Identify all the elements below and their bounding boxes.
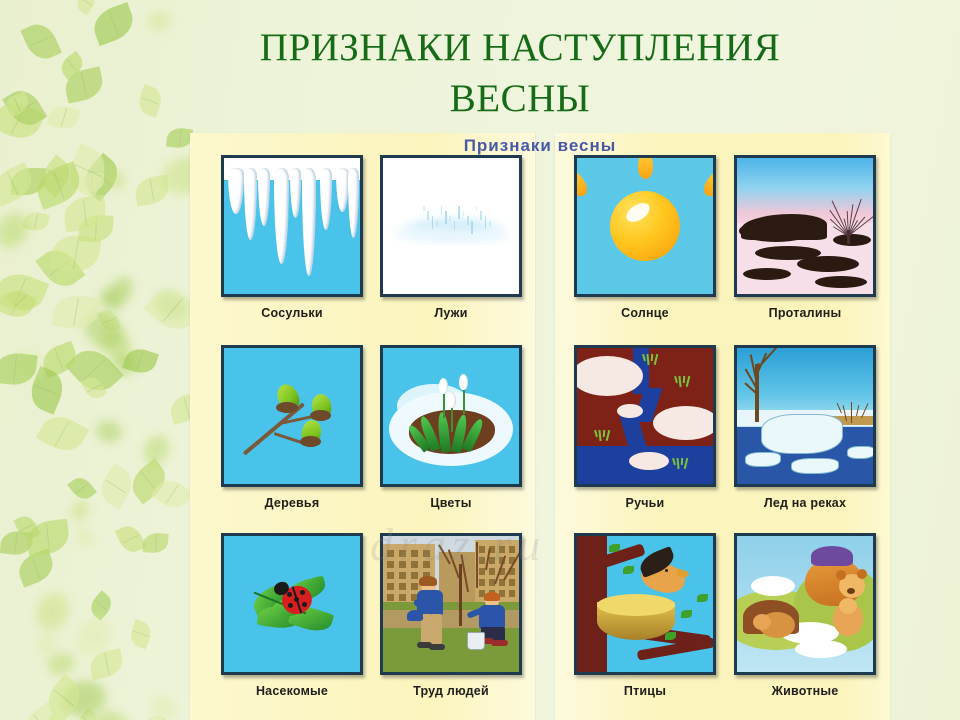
snowdrop-flower-icon (459, 374, 468, 390)
leaf-icon (5, 345, 48, 387)
leaf-icon (51, 291, 100, 332)
watering-bucket (467, 632, 485, 650)
window (411, 550, 418, 557)
card-label: Деревья (217, 496, 367, 510)
leaf-icon (123, 345, 160, 378)
leaf-icon (125, 458, 173, 504)
snow-drift (629, 452, 669, 470)
leaf-icon (69, 611, 119, 663)
water-splash-icon (463, 211, 465, 216)
leaf-icon (110, 350, 141, 378)
leaf-icon (13, 513, 40, 543)
puddle-icon (380, 155, 522, 297)
leaf-icon (35, 242, 85, 294)
people-working-icon (380, 533, 522, 675)
bud-base (300, 436, 321, 447)
window (423, 550, 430, 557)
snow-drift (653, 406, 716, 440)
leaf-icon (25, 366, 69, 415)
leaf-icon (67, 474, 97, 505)
leaf-icon (73, 707, 102, 720)
water-splash-icon (480, 211, 482, 220)
window (479, 546, 485, 553)
leaf-icon (0, 162, 37, 207)
leaf-icon (67, 496, 94, 524)
leaf-icon (41, 673, 89, 720)
leaf-icon (79, 173, 104, 192)
cub-head (839, 598, 857, 614)
bare-tree-icon (829, 192, 869, 236)
leaf-icon (20, 18, 61, 63)
leaf-icon (697, 594, 708, 602)
thawed-patches-icon (734, 155, 876, 297)
leaf-icon (93, 417, 125, 445)
window (399, 550, 406, 557)
thawed-patch (815, 276, 867, 288)
leaf-icon (96, 284, 126, 314)
sun-ray-icon (638, 155, 653, 179)
leaf-icon (2, 91, 32, 118)
ladybug-icon (221, 533, 363, 675)
leaf-icon (145, 690, 181, 720)
spring-sign-card[interactable]: Ручьи (570, 345, 720, 510)
ladybug-spot (288, 603, 293, 608)
leaf-icon (142, 710, 175, 720)
window (479, 557, 485, 564)
leaf-icon (150, 473, 193, 514)
leaf-icon (62, 66, 106, 103)
card-label: Лужи (376, 306, 526, 320)
water-splash-icon (432, 216, 434, 229)
leaf-icon (88, 648, 126, 680)
bare-tree-icon (743, 362, 777, 422)
bare-tree-icon (476, 542, 478, 588)
water-splash-icon (485, 216, 487, 229)
ladybug-spot (287, 592, 292, 597)
card-label: Ручьи (570, 496, 720, 510)
window (489, 568, 495, 575)
leaf-icon (115, 522, 146, 556)
sun-highlight (623, 199, 653, 225)
bear-ear (857, 569, 867, 579)
spring-sign-card[interactable]: Лужи (376, 155, 526, 320)
window (423, 561, 430, 568)
water-splash-icon (454, 221, 456, 230)
window (387, 550, 394, 557)
tree-buds-icon (221, 345, 363, 487)
leaf-icon (80, 373, 107, 402)
water-splash-icon (458, 206, 460, 219)
card-label: Лед на реках (730, 496, 880, 510)
window (399, 561, 406, 568)
snowdrop-icon (380, 345, 522, 487)
leaf-icon (94, 325, 137, 367)
leaf-icon (0, 350, 38, 387)
water-splash-icon (467, 216, 469, 225)
water-splash-icon (471, 221, 473, 234)
spring-sign-card[interactable]: Цветы (376, 345, 526, 510)
bear-ear (836, 570, 846, 580)
spring-sign-card[interactable]: Проталины (730, 155, 880, 320)
water-splash-icon (423, 206, 425, 211)
leaf-icon (43, 714, 68, 720)
window (489, 557, 495, 564)
ice-floe-icon (791, 458, 839, 474)
leaf-icon (0, 266, 49, 318)
puddle-shape (445, 230, 509, 241)
leaf-icon (623, 566, 634, 574)
spring-sign-card[interactable]: Сосульки (217, 155, 367, 320)
bear-family-icon (734, 533, 876, 675)
ladybug-spot (300, 590, 305, 595)
card-label: Птицы (570, 684, 720, 698)
leaf-icon (681, 610, 692, 618)
grass-tuft-icon (651, 354, 654, 361)
spring-sign-card[interactable]: Птицы (570, 533, 720, 698)
bird-nest-icon (574, 533, 716, 675)
leaf-icon (26, 519, 72, 557)
ladybug-spot (294, 597, 299, 602)
leaf-icon (104, 166, 129, 194)
leaf-icon (166, 127, 193, 150)
leaf-icon (138, 431, 174, 470)
water-splash-icon (441, 206, 443, 215)
bird-eye (665, 569, 668, 572)
thawed-patch (743, 268, 791, 280)
card-label: Солнце (570, 306, 720, 320)
leaf-icon (65, 341, 124, 400)
window (399, 594, 406, 601)
person-icon (411, 578, 457, 656)
leaf-icon (150, 287, 192, 326)
window (509, 546, 515, 553)
leaf-icon (31, 630, 62, 659)
snow-patch (751, 576, 795, 596)
leaf-icon (16, 701, 66, 720)
ice-floe-icon (847, 446, 875, 459)
leaf-icon (0, 529, 33, 557)
leaf-icon (6, 285, 37, 316)
spring-sign-card[interactable]: Деревья (217, 345, 367, 510)
spring-sign-card[interactable]: Лед на реках (730, 345, 880, 510)
window (387, 583, 394, 590)
river-ice-icon (734, 345, 876, 487)
spring-sign-card[interactable]: Труд людей (376, 533, 526, 698)
water-splash-icon (489, 221, 491, 226)
ladybug-spot (302, 602, 307, 607)
leaf-icon (11, 168, 46, 196)
leaf-icon (0, 94, 45, 146)
leaf-icon (57, 51, 88, 81)
page-title: ПРИЗНАКИ НАСТУПЛЕНИЯ ВЕСНЫ (120, 22, 920, 124)
spring-sign-card[interactable]: Солнце (570, 155, 720, 320)
streams-icon (574, 345, 716, 487)
grass-tuft-icon (603, 430, 606, 437)
leaf-icon (0, 286, 36, 322)
leaf-icon (23, 209, 51, 233)
leaf-icon (35, 155, 77, 198)
snowdrop-flower-icon (439, 378, 448, 394)
window (387, 561, 394, 568)
window (399, 572, 406, 579)
bud-base (276, 402, 298, 413)
leaf-icon (73, 0, 100, 15)
leaf-icon (30, 587, 74, 635)
snow-drift (617, 404, 643, 418)
water-splash-icon (436, 221, 438, 226)
window (499, 546, 505, 553)
window (479, 579, 485, 586)
leaf-icon (15, 549, 59, 588)
card-label: Насекомые (217, 684, 367, 698)
leaf-icon (57, 676, 109, 720)
leaf-icon (95, 464, 139, 510)
window (387, 594, 394, 601)
spring-sign-card[interactable]: Животные (730, 533, 880, 698)
snowdrop-flower-icon (447, 392, 456, 408)
water-splash-icon (427, 211, 429, 220)
leaf-icon (77, 152, 126, 201)
spring-sign-card[interactable]: Насекомые (217, 533, 367, 698)
nest-rim (597, 594, 675, 616)
leaf-icon (36, 409, 89, 459)
leaf-icon (665, 632, 676, 640)
water-splash-icon (476, 206, 478, 211)
leaf-icon (104, 273, 138, 309)
leaf-icon (97, 307, 121, 334)
card-label: Цветы (376, 496, 526, 510)
leaf-icon (127, 619, 155, 650)
slide-canvas: ПРИЗНАКИ НАСТУПЛЕНИЯ ВЕСНЫ Признаки весн… (0, 0, 960, 720)
leaf-icon (133, 174, 171, 206)
sun-disc-icon (610, 191, 680, 261)
leaf-icon (142, 532, 168, 553)
card-label: Проталины (730, 306, 880, 320)
water-splash-icon (449, 216, 451, 221)
ice-floe-icon (745, 452, 781, 467)
card-label: Труд людей (376, 684, 526, 698)
leaf-icon (3, 84, 48, 132)
snow-drift (574, 356, 643, 396)
leaf-icon (72, 524, 98, 552)
leaf-icon (85, 702, 138, 720)
leaf-icon (86, 591, 116, 622)
bear-snout (847, 588, 855, 594)
leaf-icon (62, 143, 113, 199)
leaf-icon (47, 103, 81, 133)
card-label: Животные (730, 684, 880, 698)
window (387, 572, 394, 579)
thawed-patch (797, 256, 859, 272)
snow-patch (795, 640, 847, 658)
leaf-icon (609, 544, 620, 552)
leaf-icon (44, 649, 77, 677)
window (399, 583, 406, 590)
leaf-icon (31, 161, 86, 210)
leaf-icon (0, 207, 33, 253)
leaf-icon (79, 215, 114, 243)
window (509, 579, 515, 586)
grass-tuft-icon (683, 376, 686, 383)
cub-head (753, 614, 771, 630)
leaf-icon (38, 341, 80, 379)
icicles-icon (221, 155, 363, 297)
window (411, 561, 418, 568)
planted-sapling (459, 564, 462, 626)
card-label: Сосульки (217, 306, 367, 320)
spring-signs-poster: Признаки весны draz.ru СосулькиЛужиСолнц… (190, 133, 890, 720)
leaf-icon (78, 306, 130, 355)
sun-icon (574, 155, 716, 297)
leaf-icon (49, 231, 101, 275)
purple-foliage (811, 546, 853, 566)
grass-tuft-icon (681, 458, 684, 465)
leaf-icon (62, 195, 107, 232)
water-splash-icon (445, 211, 447, 224)
